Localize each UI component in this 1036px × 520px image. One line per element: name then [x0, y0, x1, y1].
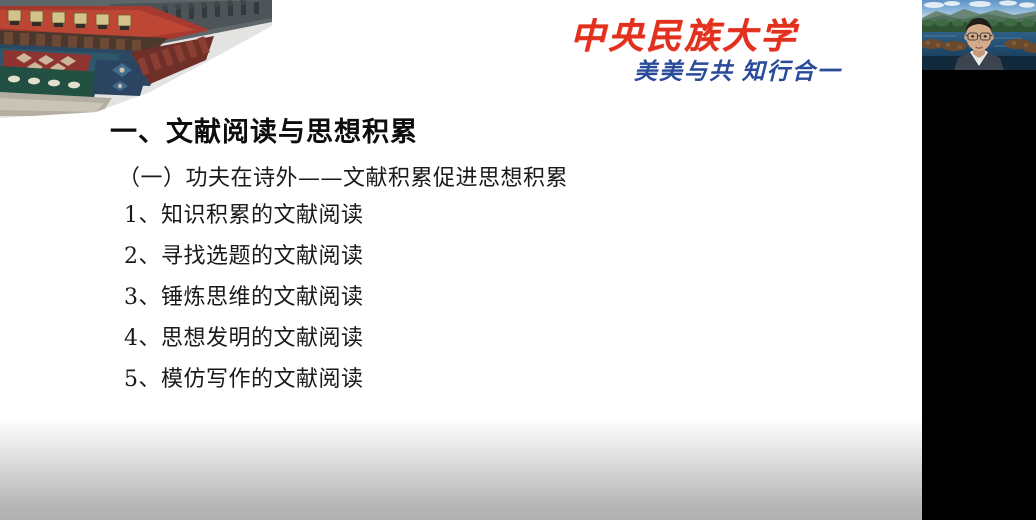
university-motto-text: 美美与共 知行合一 [634, 52, 842, 86]
list-item: 4、思想发明的文献阅读 [124, 324, 724, 365]
video-panel[interactable] [922, 0, 1036, 520]
list-item: 2、寻找选题的文献阅读 [124, 242, 724, 283]
slide-subtitle: （一）功夫在诗外——文献积累促进思想积累 [118, 160, 568, 192]
slide-title: 一、文献阅读与思想积累 [110, 110, 418, 149]
slide-bottom-gradient [0, 418, 922, 520]
presenter-video-frame [922, 0, 1036, 70]
list-item: 1、知识积累的文献阅读 [124, 201, 724, 242]
video-panel-empty-area [922, 70, 1036, 520]
screen-root: 中央民族大学 美美与共 知行合一 一、文献阅读与思想积累 （一）功夫在诗外——文… [0, 0, 1036, 520]
university-logo: 中央民族大学 美美与共 知行合一 [560, 6, 870, 90]
slide-bullet-list: 1、知识积累的文献阅读 2、寻找选题的文献阅读 3、锤炼思维的文献阅读 4、思想… [124, 201, 724, 406]
presentation-slide: 中央民族大学 美美与共 知行合一 一、文献阅读与思想积累 （一）功夫在诗外——文… [0, 0, 922, 520]
temple-eaves-artwork [0, 0, 272, 122]
list-item: 5、模仿写作的文献阅读 [124, 365, 724, 406]
presenter-video-feed[interactable] [922, 0, 1036, 70]
temple-eaves-image [0, 0, 272, 122]
list-item: 3、锤炼思维的文献阅读 [124, 283, 724, 324]
